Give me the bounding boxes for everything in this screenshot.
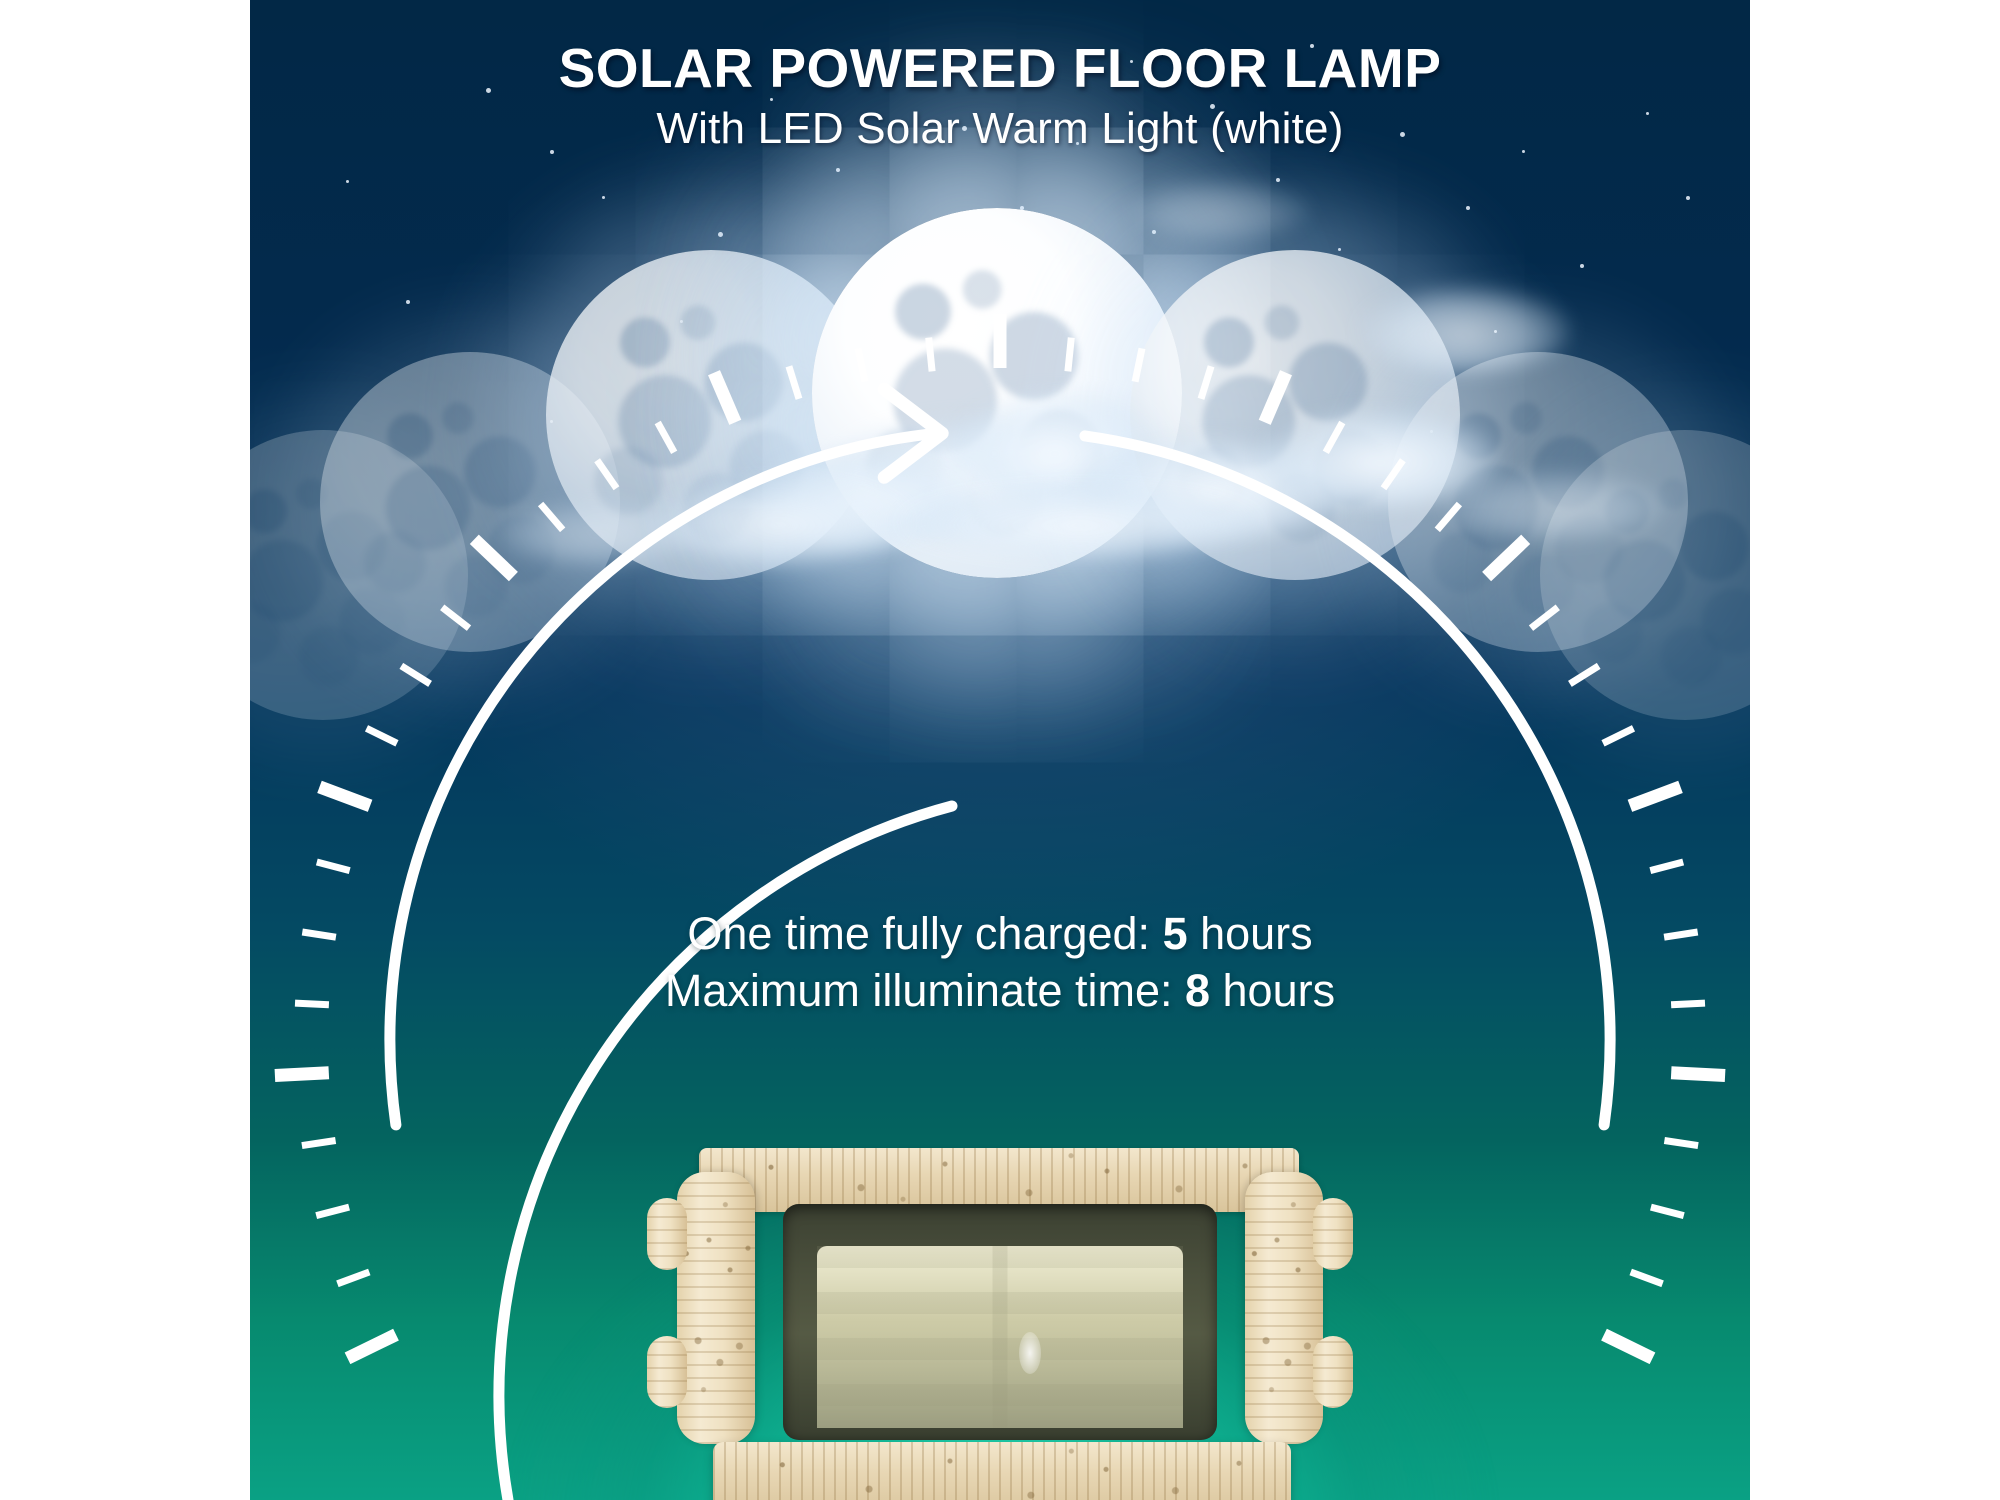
dial-tick bbox=[1671, 1073, 1725, 1076]
dial-tick bbox=[1630, 787, 1681, 806]
dial-tick bbox=[275, 1073, 329, 1076]
lamp-right-lug bbox=[1313, 1198, 1353, 1270]
solar-lamp-icon bbox=[641, 1148, 1359, 1500]
dial-tick bbox=[1631, 1272, 1663, 1284]
dial-tick bbox=[316, 1207, 349, 1216]
dial-tick bbox=[320, 787, 371, 806]
lamp-solar-panel-window bbox=[783, 1204, 1217, 1440]
spec-charge-prefix: One time fully charged: bbox=[687, 908, 1162, 959]
lamp-right-lug-2 bbox=[1313, 1336, 1353, 1408]
spec-charge-value: 5 bbox=[1163, 908, 1188, 959]
dial-tick bbox=[1651, 1207, 1684, 1216]
dial-tick bbox=[1664, 1141, 1698, 1146]
page-title: SOLAR POWERED FLOOR LAMP bbox=[250, 36, 1750, 100]
spec-charge-time: One time fully charged: 5 hours bbox=[250, 906, 1750, 963]
spec-illuminate-time: Maximum illuminate time: 8 hours bbox=[250, 963, 1750, 1020]
page-subtitle: With LED Solar Warm Light (white) bbox=[250, 104, 1750, 154]
lamp-bottom-bar bbox=[713, 1442, 1291, 1500]
lamp-left-post bbox=[677, 1172, 755, 1444]
spec-illuminate-prefix: Maximum illuminate time: bbox=[665, 965, 1185, 1016]
lamp-left-lug-2 bbox=[647, 1336, 687, 1408]
spec-list: One time fully charged: 5 hours Maximum … bbox=[250, 906, 1750, 1019]
spec-illuminate-value: 8 bbox=[1185, 965, 1210, 1016]
dial-tick bbox=[337, 1272, 369, 1284]
spec-charge-suffix: hours bbox=[1188, 908, 1313, 959]
lamp-right-post bbox=[1245, 1172, 1323, 1444]
spec-illuminate-suffix: hours bbox=[1210, 965, 1335, 1016]
night-sky-panel: SOLAR POWERED FLOOR LAMP With LED Solar … bbox=[250, 0, 1750, 1500]
dial-tick bbox=[1603, 728, 1634, 743]
dial-tick bbox=[1650, 862, 1683, 871]
dial-tick bbox=[302, 1141, 336, 1146]
dial-tick bbox=[317, 862, 350, 871]
lamp-top-bar bbox=[699, 1148, 1299, 1212]
dial-tick bbox=[367, 728, 398, 743]
lamp-left-lug bbox=[647, 1198, 687, 1270]
product-infographic: SOLAR POWERED FLOOR LAMP With LED Solar … bbox=[0, 0, 2000, 1500]
